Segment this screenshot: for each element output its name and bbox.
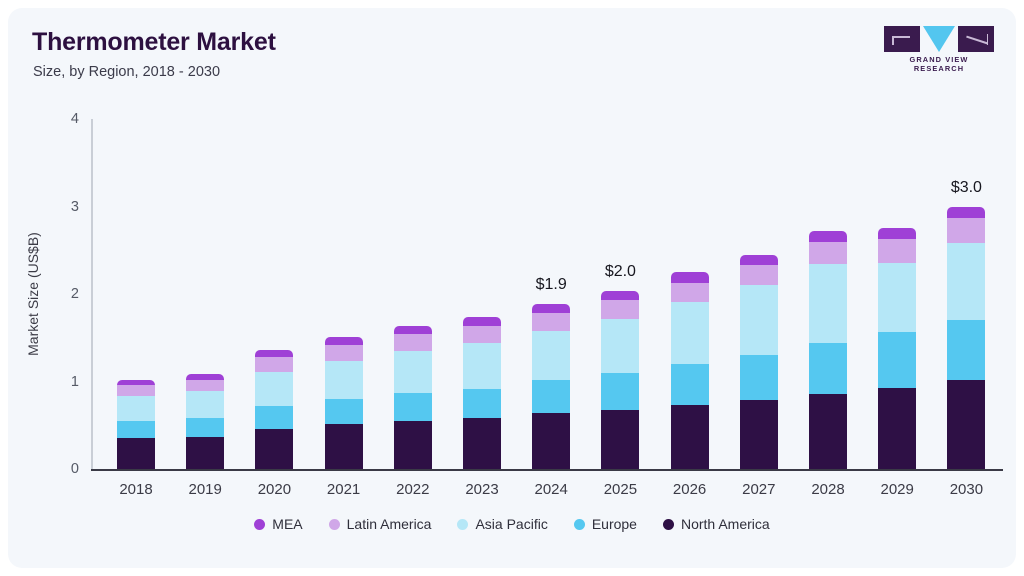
x-axis-tick-label: 2021 xyxy=(325,481,363,498)
bar-segment-mea[interactable] xyxy=(532,304,570,314)
stacked-bar[interactable] xyxy=(325,337,363,469)
bar-segment-latin-america[interactable] xyxy=(186,380,224,391)
bar-segment-latin-america[interactable] xyxy=(532,313,570,331)
bar-segment-latin-america[interactable] xyxy=(740,265,778,285)
legend-label: Asia Pacific xyxy=(475,516,547,532)
legend-swatch-icon xyxy=(329,519,340,530)
bar-segment-europe[interactable] xyxy=(186,418,224,436)
x-axis-line xyxy=(91,469,1003,471)
bar-segment-mea[interactable] xyxy=(671,272,709,283)
x-axis-tick-label: 2020 xyxy=(255,481,293,498)
y-axis-tick-label: 0 xyxy=(71,461,79,477)
bar-group[interactable] xyxy=(809,119,847,469)
x-axis-tick-label: 2024 xyxy=(532,481,570,498)
x-axis-tick-label: 2025 xyxy=(601,481,639,498)
bar-segment-europe[interactable] xyxy=(671,364,709,405)
bar-segment-north-america[interactable] xyxy=(255,429,293,469)
stacked-bar[interactable] xyxy=(809,231,847,469)
bar-segment-asia-pacific[interactable] xyxy=(532,331,570,380)
bar-segment-north-america[interactable] xyxy=(532,413,570,469)
bar-value-label: $2.0 xyxy=(585,263,655,281)
bar-group[interactable] xyxy=(463,119,501,469)
legend-label: North America xyxy=(681,516,770,532)
bar-segment-europe[interactable] xyxy=(532,380,570,413)
bar-segment-mea[interactable] xyxy=(325,337,363,345)
bar-segment-north-america[interactable] xyxy=(117,438,155,469)
bar-segment-asia-pacific[interactable] xyxy=(809,264,847,343)
x-axis-tick-label: 2018 xyxy=(117,481,155,498)
bar-segment-north-america[interactable] xyxy=(671,405,709,469)
bar-segment-north-america[interactable] xyxy=(325,424,363,469)
bar-value-label: $1.9 xyxy=(516,276,586,294)
bar-segment-north-america[interactable] xyxy=(878,388,916,469)
stacked-bar[interactable] xyxy=(463,317,501,469)
stacked-bar[interactable] xyxy=(878,228,916,470)
bar-segment-europe[interactable] xyxy=(740,355,778,400)
legend-swatch-icon xyxy=(574,519,585,530)
bar-segment-mea[interactable] xyxy=(117,380,155,385)
x-axis-tick-label: 2022 xyxy=(394,481,432,498)
legend-label: MEA xyxy=(272,516,302,532)
bar-value-label: $3.0 xyxy=(931,179,1001,197)
bar-group[interactable] xyxy=(394,119,432,469)
stacked-bar[interactable] xyxy=(117,380,155,469)
bar-segment-north-america[interactable] xyxy=(463,418,501,469)
legend-swatch-icon xyxy=(663,519,674,530)
y-axis-tick-label: 2 xyxy=(71,286,79,302)
stacked-bar[interactable] xyxy=(947,207,985,470)
x-axis-tick-label: 2019 xyxy=(186,481,224,498)
bar-group[interactable] xyxy=(117,119,155,469)
plot-area: Market Size (US$B) 01234 201820192020202… xyxy=(91,119,1003,469)
bar-segment-europe[interactable] xyxy=(601,373,639,410)
bar-group[interactable] xyxy=(947,119,985,469)
bar-segment-latin-america[interactable] xyxy=(601,300,639,318)
bar-group[interactable] xyxy=(532,119,570,469)
bar-segment-latin-america[interactable] xyxy=(809,242,847,264)
bar-segment-latin-america[interactable] xyxy=(117,385,155,396)
y-axis-tick-label: 3 xyxy=(71,199,79,215)
bar-group[interactable] xyxy=(671,119,709,469)
bar-segment-europe[interactable] xyxy=(947,320,985,380)
stacked-bar[interactable] xyxy=(394,326,432,469)
y-axis-title: Market Size (US$B) xyxy=(25,232,41,356)
grand-view-research-logo: GRAND VIEW RESEARCH xyxy=(884,26,994,70)
bar-segment-north-america[interactable] xyxy=(740,400,778,469)
logo-marks xyxy=(884,26,994,52)
bar-segment-asia-pacific[interactable] xyxy=(325,361,363,400)
bar-group[interactable] xyxy=(255,119,293,469)
bar-segment-latin-america[interactable] xyxy=(878,239,916,263)
chart-legend: MEALatin AmericaAsia PacificEuropeNorth … xyxy=(8,516,1016,532)
bar-segment-latin-america[interactable] xyxy=(671,283,709,302)
bar-segment-mea[interactable] xyxy=(878,228,916,239)
bar-segment-europe[interactable] xyxy=(325,399,363,424)
bar-segment-north-america[interactable] xyxy=(601,410,639,470)
y-axis-tick-label: 4 xyxy=(71,111,79,127)
bar-segment-mea[interactable] xyxy=(394,326,432,334)
bar-segment-latin-america[interactable] xyxy=(463,326,501,344)
bar-segment-asia-pacific[interactable] xyxy=(601,319,639,373)
bar-segment-asia-pacific[interactable] xyxy=(117,396,155,421)
bar-segment-mea[interactable] xyxy=(186,374,224,380)
bar-segment-mea[interactable] xyxy=(740,255,778,266)
x-axis-tick-label: 2028 xyxy=(809,481,847,498)
legend-label: Europe xyxy=(592,516,637,532)
bar-segment-asia-pacific[interactable] xyxy=(740,285,778,355)
legend-swatch-icon xyxy=(457,519,468,530)
bar-segment-north-america[interactable] xyxy=(394,421,432,469)
bar-segment-latin-america[interactable] xyxy=(947,218,985,243)
legend-item-mea[interactable]: MEA xyxy=(254,516,302,532)
bar-group[interactable] xyxy=(186,119,224,469)
legend-item-latin-america[interactable]: Latin America xyxy=(329,516,432,532)
bar-group[interactable] xyxy=(601,119,639,469)
bar-segment-mea[interactable] xyxy=(601,291,639,301)
y-axis-tick-label: 1 xyxy=(71,374,79,390)
legend-item-europe[interactable]: Europe xyxy=(574,516,637,532)
logo-triangle-icon xyxy=(923,26,955,52)
bar-segment-latin-america[interactable] xyxy=(255,357,293,372)
bar-segment-europe[interactable] xyxy=(878,332,916,388)
logo-left-rect-icon xyxy=(884,26,920,52)
logo-text: GRAND VIEW RESEARCH xyxy=(884,55,994,73)
legend-swatch-icon xyxy=(254,519,265,530)
x-axis-tick-label: 2029 xyxy=(878,481,916,498)
bar-segment-asia-pacific[interactable] xyxy=(394,351,432,393)
x-axis-tick-label: 2030 xyxy=(947,481,985,498)
x-axis-tick-label: 2026 xyxy=(671,481,709,498)
stacked-bar[interactable] xyxy=(186,374,224,469)
bar-segment-north-america[interactable] xyxy=(186,437,224,469)
bar-segment-mea[interactable] xyxy=(255,350,293,357)
logo-right-rect-icon xyxy=(958,26,994,52)
legend-item-asia-pacific[interactable]: Asia Pacific xyxy=(457,516,547,532)
bar-segment-asia-pacific[interactable] xyxy=(463,343,501,389)
y-axis-line xyxy=(91,119,93,469)
stacked-bar[interactable] xyxy=(601,291,639,470)
bar-segment-asia-pacific[interactable] xyxy=(186,391,224,418)
bar-segment-north-america[interactable] xyxy=(809,394,847,469)
bar-segment-europe[interactable] xyxy=(117,421,155,439)
bar-group[interactable] xyxy=(740,119,778,469)
legend-item-north-america[interactable]: North America xyxy=(663,516,770,532)
bar-segment-europe[interactable] xyxy=(255,406,293,429)
stacked-bar[interactable] xyxy=(740,255,778,469)
bar-segment-latin-america[interactable] xyxy=(325,345,363,361)
bar-segment-europe[interactable] xyxy=(809,343,847,394)
chart-card: Thermometer Market Size, by Region, 2018… xyxy=(8,8,1016,568)
chart-subtitle: Size, by Region, 2018 - 2030 xyxy=(33,64,220,80)
x-axis-tick-label: 2023 xyxy=(463,481,501,498)
bar-segment-europe[interactable] xyxy=(394,393,432,421)
stacked-bar[interactable] xyxy=(671,272,709,469)
bar-segment-europe[interactable] xyxy=(463,389,501,419)
stacked-bar[interactable] xyxy=(532,304,570,469)
bar-segment-asia-pacific[interactable] xyxy=(878,263,916,332)
x-axis-tick-label: 2027 xyxy=(740,481,778,498)
stacked-bar[interactable] xyxy=(255,350,293,469)
bar-segment-mea[interactable] xyxy=(947,207,985,218)
bar-segment-asia-pacific[interactable] xyxy=(255,372,293,406)
page-title: Thermometer Market xyxy=(32,28,276,57)
bar-group[interactable] xyxy=(878,119,916,469)
bar-segment-latin-america[interactable] xyxy=(394,334,432,351)
bar-segment-asia-pacific[interactable] xyxy=(947,243,985,320)
bar-segment-mea[interactable] xyxy=(463,317,501,326)
bar-group[interactable] xyxy=(325,119,363,469)
bar-segment-north-america[interactable] xyxy=(947,380,985,469)
legend-label: Latin America xyxy=(347,516,432,532)
bar-segment-mea[interactable] xyxy=(809,231,847,242)
bar-segment-asia-pacific[interactable] xyxy=(671,302,709,364)
